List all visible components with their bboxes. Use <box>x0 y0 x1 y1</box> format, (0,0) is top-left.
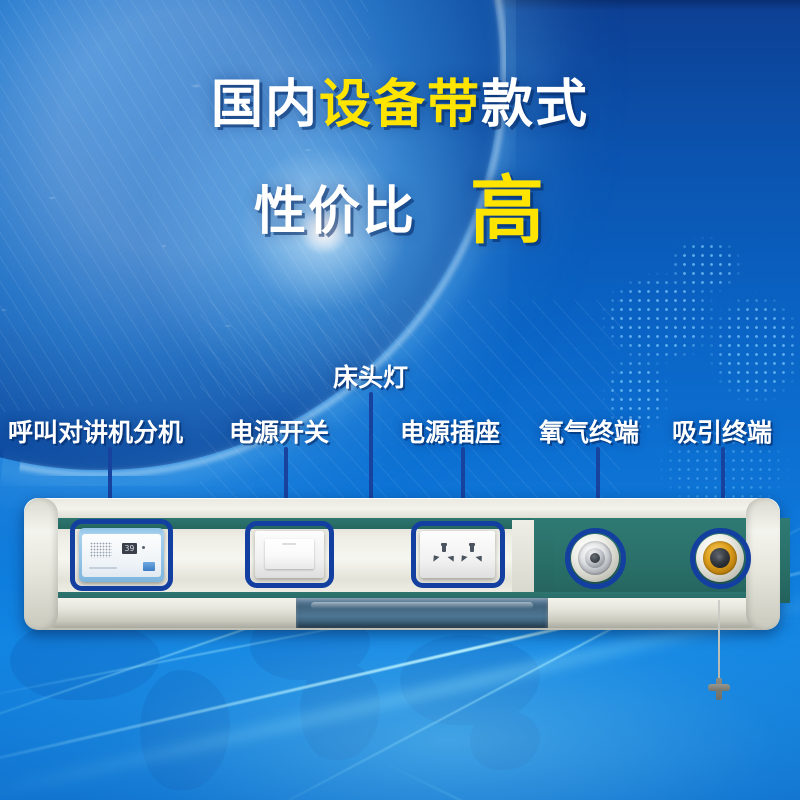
callout-label-suction: 吸引终端 <box>672 413 772 449</box>
callout-label-intercom: 呼叫对讲机分机 <box>8 413 183 449</box>
power-socket-outlet-left[interactable] <box>431 544 457 566</box>
hanging-cord <box>718 600 720 680</box>
speaker-grille-icon <box>90 542 112 558</box>
socket-pin-vertical <box>442 544 446 552</box>
intercom-call-button[interactable] <box>143 562 155 571</box>
power-switch-rocker[interactable] <box>265 539 314 569</box>
bottom-glow <box>0 620 800 800</box>
indicator-dot-icon <box>142 546 145 549</box>
nurse-call-intercom-unit[interactable]: 39 <box>79 528 164 582</box>
power-switch-plate[interactable] <box>255 531 324 578</box>
callout-label-oxygen: 氧气终端 <box>539 413 639 449</box>
intercom-display: 39 <box>122 543 137 554</box>
suction-port-hole <box>715 553 725 563</box>
bed-lamp-strip[interactable] <box>296 598 548 628</box>
intercom-faceplate: 39 <box>82 534 161 577</box>
socket-pin-left <box>458 553 467 562</box>
oxygen-port-hole <box>590 553 600 563</box>
intercom-label-bar <box>89 567 117 569</box>
halftone-world-map <box>590 215 800 445</box>
suction-terminal-port[interactable] <box>696 534 744 582</box>
panel-endcap-right <box>746 498 780 630</box>
callout-label-socket: 电源插座 <box>400 413 500 449</box>
socket-pin-right <box>475 553 484 562</box>
panel-endcap-left <box>24 498 58 630</box>
socket-pin-vertical <box>470 544 474 552</box>
power-socket-plate[interactable] <box>420 531 495 578</box>
callout-label-switch: 电源开关 <box>229 413 329 449</box>
cord-connector-icon <box>708 678 730 700</box>
power-socket-outlet-right[interactable] <box>459 544 485 566</box>
socket-pin-right <box>447 553 456 562</box>
background <box>0 0 800 800</box>
socket-pin-left <box>430 553 439 562</box>
callout-label-bedlamp: 床头灯 <box>333 358 408 394</box>
oxygen-terminal-port[interactable] <box>571 534 619 582</box>
panel-white-gap <box>512 520 534 602</box>
